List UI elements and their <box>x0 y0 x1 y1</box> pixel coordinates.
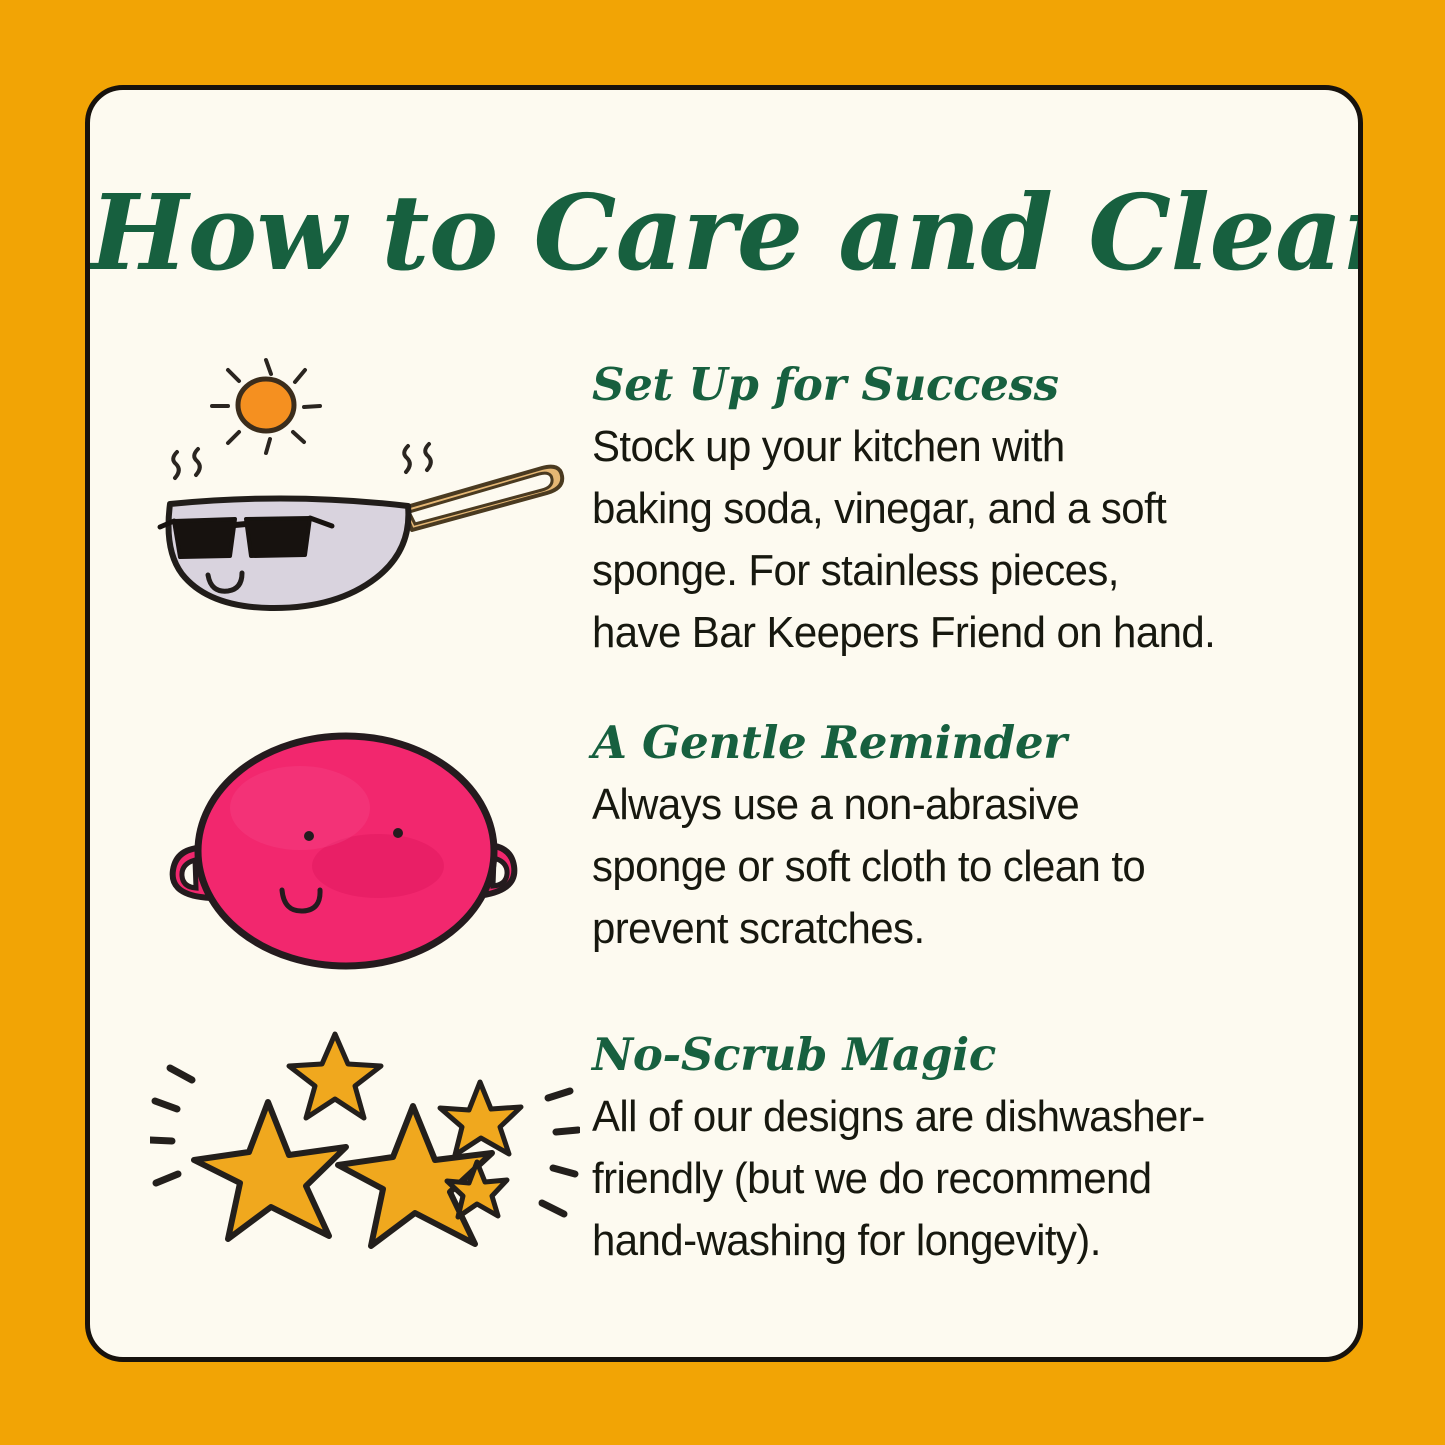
page-title: How to Care and Clean <box>90 178 1358 287</box>
pink-casserole-dish-face-illustration <box>150 708 580 998</box>
section-copy-a-gentle-reminder: A Gentle Reminder Always use a non-abras… <box>580 708 1310 960</box>
body-line: friendly (but we do recommend <box>592 1148 1285 1210</box>
section-row-set-up-for-success: Set Up for Success Stock up your kitchen… <box>150 350 1310 664</box>
content-card: How to Care and Clean <box>85 85 1363 1362</box>
body-line: All of our designs are dishwasher- <box>592 1086 1285 1148</box>
poster-canvas: How to Care and Clean <box>0 0 1445 1445</box>
sparkle-dashes-right-icon <box>542 1091 578 1214</box>
body-line: baking soda, vinegar, and a soft <box>592 478 1285 540</box>
section-body: All of our designs are dishwasher- frien… <box>592 1086 1285 1272</box>
star-small-top-icon <box>289 1034 381 1118</box>
eye-right-icon <box>393 828 403 838</box>
body-line: Stock up your kitchen with <box>592 416 1285 478</box>
section-heading: Set Up for Success <box>592 360 1310 410</box>
section-body: Always use a non-abrasive sponge or soft… <box>592 774 1285 960</box>
section-row-no-scrub-magic: No-Scrub Magic All of our designs are di… <box>150 1020 1310 1310</box>
dish-highlight <box>230 766 370 850</box>
steam-squiggle-right-icon <box>404 444 431 472</box>
body-line: sponge. For stainless pieces, <box>592 540 1285 602</box>
sparkling-stars-illustration <box>150 1020 580 1310</box>
section-heading: No-Scrub Magic <box>592 1030 1310 1080</box>
body-line: Always use a non-abrasive <box>592 774 1285 836</box>
star-large-left-icon <box>194 1102 346 1239</box>
section-row-a-gentle-reminder: A Gentle Reminder Always use a non-abras… <box>150 708 1310 998</box>
eye-left-icon <box>304 831 314 841</box>
body-line: hand-washing for longevity). <box>592 1210 1285 1272</box>
pan-handle-icon <box>403 467 562 530</box>
section-heading: A Gentle Reminder <box>592 718 1310 768</box>
section-copy-set-up-for-success: Set Up for Success Stock up your kitchen… <box>580 350 1310 664</box>
steam-squiggle-left-icon <box>173 449 200 478</box>
sun-icon <box>212 360 320 453</box>
frying-pan-with-sunglasses-and-sun-illustration <box>150 350 580 640</box>
section-body: Stock up your kitchen with baking soda, … <box>592 416 1285 664</box>
body-line: have Bar Keepers Friend on hand. <box>592 602 1285 664</box>
sparkle-dashes-left-icon <box>150 1068 192 1183</box>
body-line: sponge or soft cloth to clean to <box>592 836 1285 898</box>
body-line: prevent scratches. <box>592 898 1285 960</box>
section-copy-no-scrub-magic: No-Scrub Magic All of our designs are di… <box>580 1020 1310 1272</box>
star-small-right-upper-icon <box>440 1082 521 1155</box>
